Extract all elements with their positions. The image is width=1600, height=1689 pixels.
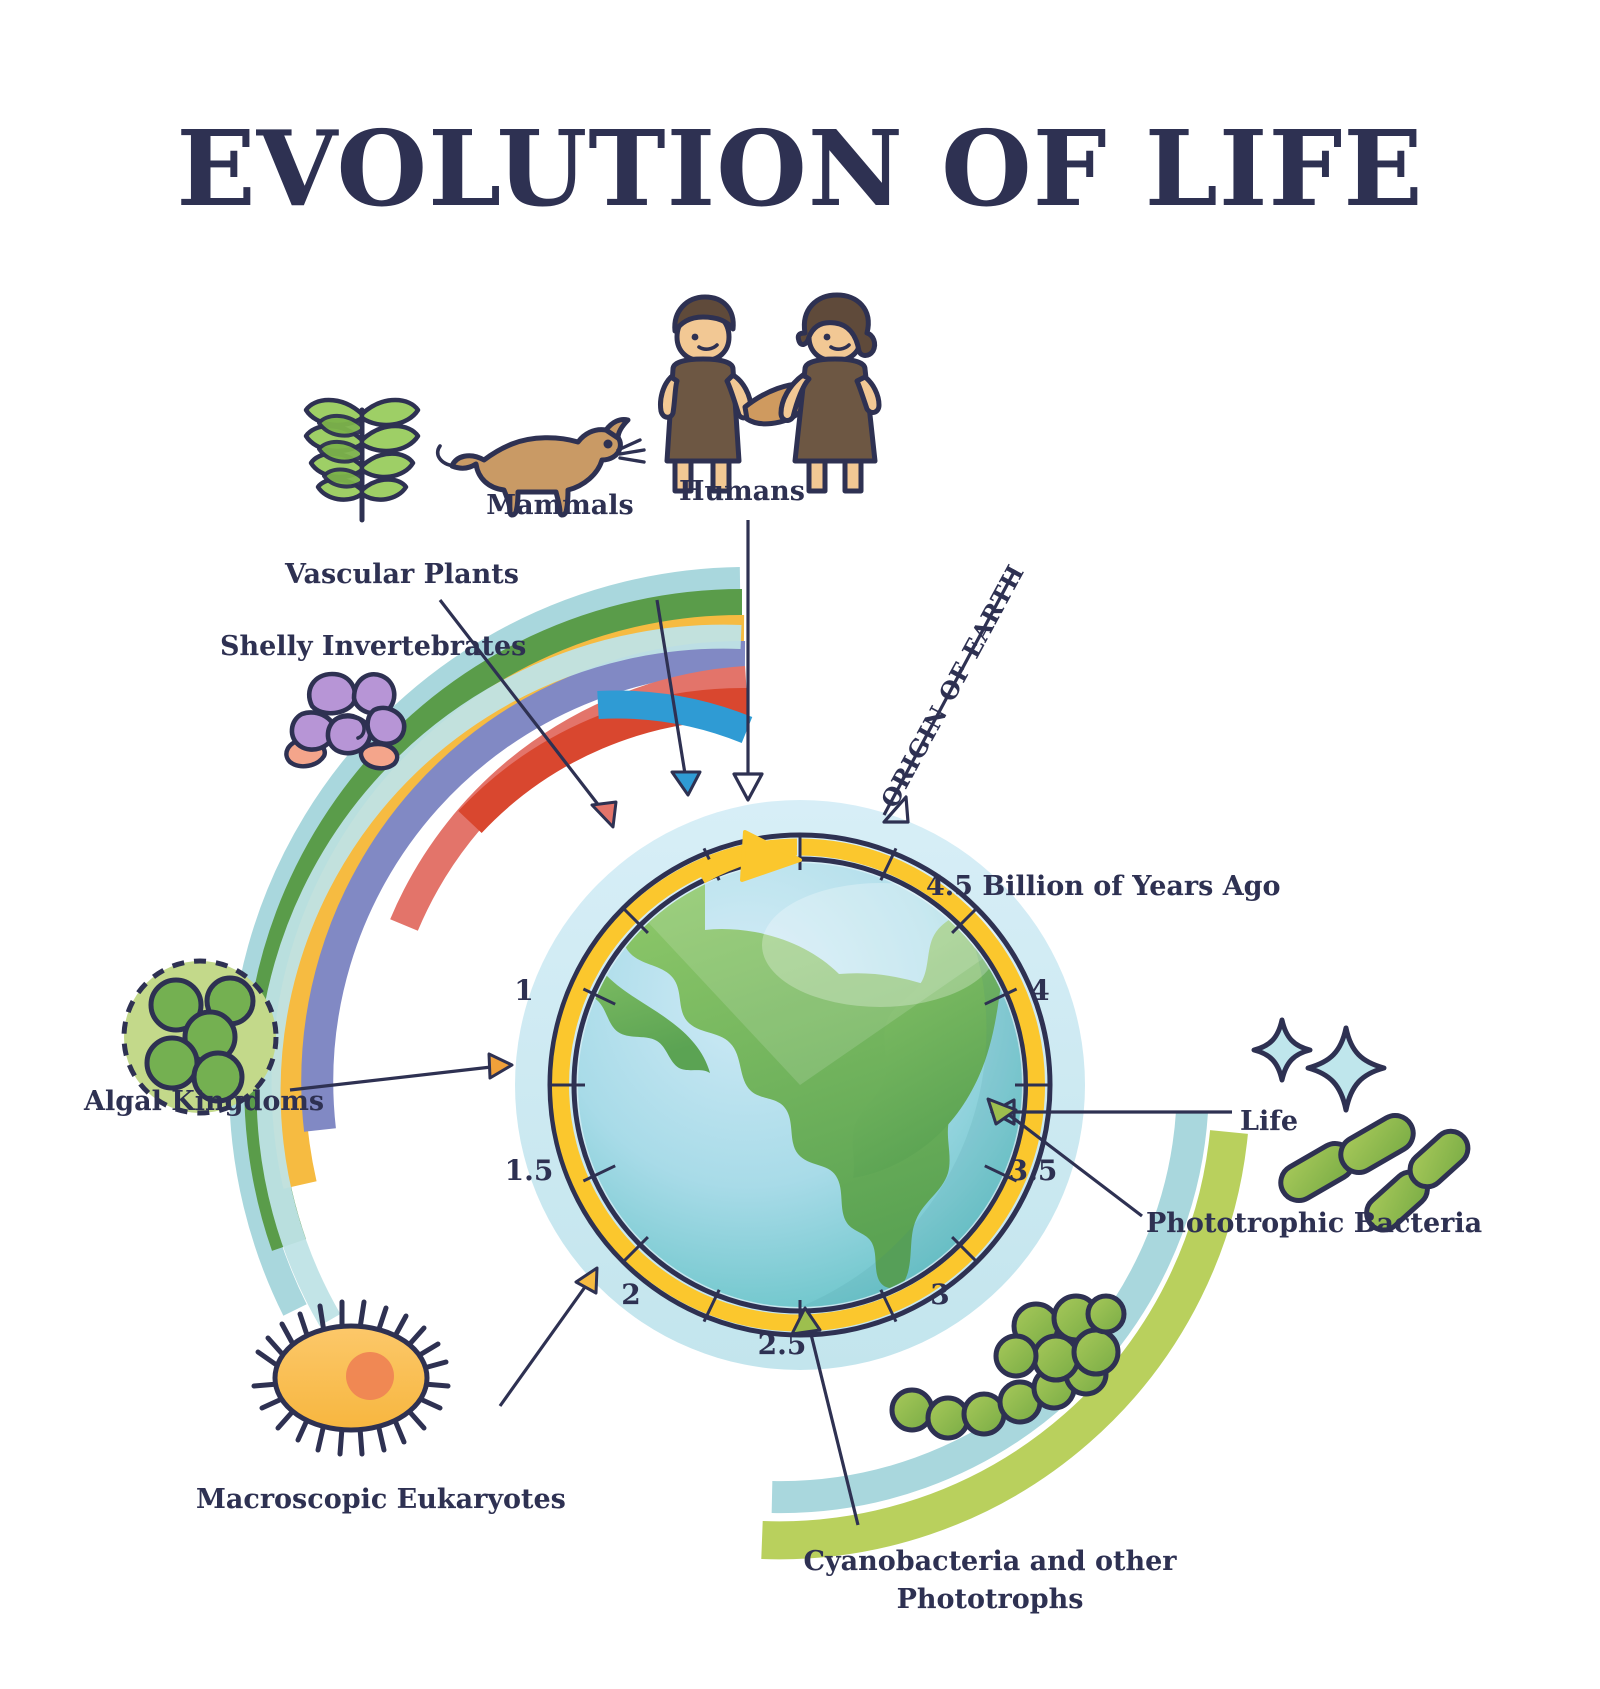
dial-tick-4: 4	[1030, 974, 1049, 1007]
algal-kingdoms-label: Algal Kingdoms	[83, 1086, 324, 1117]
infographic-canvas: EVOLUTION OF LIFE	[0, 0, 1600, 1689]
macroscopic-eukaryotes-leader	[500, 1268, 597, 1406]
dial-tick-3-5: 3.5	[1009, 1154, 1058, 1187]
cyanobacteria-label-line2: Phototrophs	[897, 1584, 1084, 1615]
earth-globe-icon	[515, 737, 1090, 1370]
macroscopic-eukaryotes-label: Macroscopic Eukaryotes	[196, 1484, 566, 1515]
age-label: 4.5 Billion of Years Ago	[926, 871, 1281, 902]
page-title: EVOLUTION OF LIFE	[176, 107, 1423, 230]
human-pair-icon	[660, 295, 879, 491]
origin-of-earth-label: ORIGIN OF EARTH	[875, 559, 1030, 812]
mammals-label: Mammals	[486, 490, 633, 521]
origin-of-earth-callout: ORIGIN OF EARTH	[875, 559, 1030, 822]
fern-icon	[306, 400, 418, 520]
dial-tick-1-5: 1.5	[505, 1154, 554, 1187]
dial-tick-1: 1	[514, 974, 533, 1007]
dial-tick-2: 2	[621, 1278, 640, 1311]
phototrophic-bacteria-label: Phototrophic Bacteria	[1146, 1208, 1482, 1239]
dial-tick-3: 3	[930, 1278, 949, 1311]
vascular-plants-label: Vascular Plants	[284, 559, 519, 590]
shelly-invertebrates-label: Shelly Invertebrates	[220, 631, 526, 662]
cyanobacteria-label-line1: Cyanobacteria and other	[803, 1546, 1177, 1577]
humans-label: Humans	[679, 476, 805, 507]
ciliated-eukaryote-icon	[254, 1302, 448, 1454]
shelly-invertebrate-icon	[286, 674, 404, 768]
life-label: Life	[1240, 1106, 1298, 1137]
sparkle-icon	[1254, 1020, 1384, 1110]
